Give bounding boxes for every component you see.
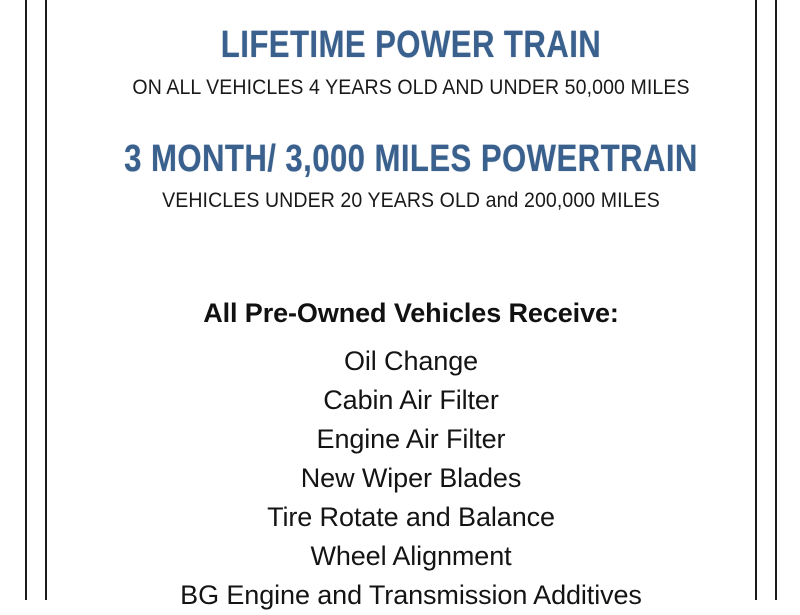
page-rule-left-outer: [25, 0, 27, 600]
services-heading: All Pre-Owned Vehicles Receive:: [47, 300, 775, 327]
warranty-subtitle-three-month: VEHICLES UNDER 20 YEARS OLD and 200,000 …: [72, 190, 749, 212]
list-item: New Wiper Blades: [47, 459, 775, 498]
list-item: BG Engine and Transmission Additives: [47, 576, 775, 615]
list-item: Cabin Air Filter: [47, 381, 775, 420]
warranty-block-lifetime: LIFETIME POWER TRAIN ON ALL VEHICLES 4 Y…: [47, 26, 775, 99]
list-item: Oil Change: [47, 342, 775, 381]
warranty-title-lifetime: LIFETIME POWER TRAIN: [113, 26, 710, 64]
page-rule-right-outer: [775, 0, 777, 600]
list-item: Wheel Alignment: [47, 537, 775, 576]
warranty-block-three-month: 3 MONTH/ 3,000 MILES POWERTRAIN VEHICLES…: [47, 140, 775, 212]
flyer-page: LIFETIME POWER TRAIN ON ALL VEHICLES 4 Y…: [0, 0, 800, 600]
list-item: Tire Rotate and Balance: [47, 498, 775, 537]
list-item: Engine Air Filter: [47, 420, 775, 459]
services-list: Oil Change Cabin Air Filter Engine Air F…: [47, 342, 775, 615]
warranty-title-three-month: 3 MONTH/ 3,000 MILES POWERTRAIN: [113, 140, 710, 178]
services-section: All Pre-Owned Vehicles Receive: Oil Chan…: [47, 300, 775, 615]
warranty-subtitle-lifetime: ON ALL VEHICLES 4 YEARS OLD AND UNDER 50…: [72, 77, 749, 99]
content-column: LIFETIME POWER TRAIN ON ALL VEHICLES 4 Y…: [47, 0, 775, 600]
